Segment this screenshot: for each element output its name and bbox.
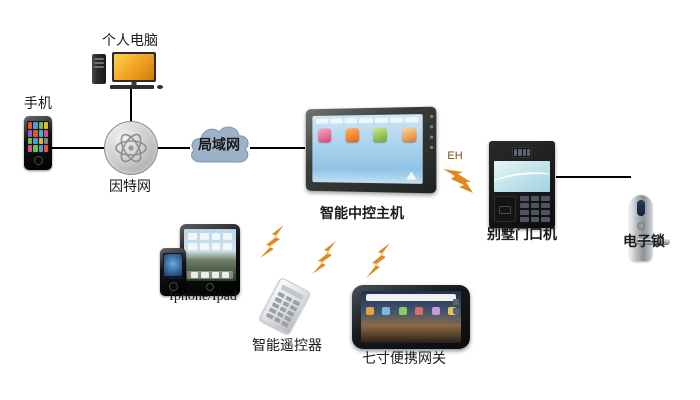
tablet-phone-icon [160, 224, 242, 290]
wireless-bolt-eh-icon [440, 163, 480, 197]
desktop-computer-icon [92, 52, 170, 90]
cloud-icon: 局域网 [185, 118, 253, 176]
touch-panel-icon [303, 108, 435, 192]
wireless-bolt-gateway-icon [364, 240, 398, 284]
iphone-ipad-label: Iphone/Ipad [148, 289, 258, 305]
internet-label: 因特网 [100, 176, 160, 196]
door-station-label: 别墅门口机 [479, 224, 565, 244]
lan-label: 局域网 [185, 134, 253, 154]
pc-label: 个人电脑 [85, 30, 175, 50]
central-host-label: 智能中控主机 [302, 203, 422, 223]
door-station-icon [489, 141, 555, 228]
link-pc-internet [130, 88, 132, 125]
phone-label: 手机 [10, 93, 66, 113]
electronic-lock-icon [630, 195, 700, 261]
remote-label: 智能遥控器 [242, 335, 332, 355]
smartphone-icon [24, 116, 52, 170]
gateway-label: 七寸便携网关 [352, 348, 456, 368]
eh-link-label: EH [441, 150, 469, 162]
remote-control-icon [268, 282, 302, 330]
wireless-bolt-ipad-icon [258, 222, 292, 264]
internet-atom-icon [104, 121, 158, 175]
network-topology-diagram: 手机 个人电脑 [0, 0, 700, 400]
link-lan-central-host [250, 147, 305, 149]
link-doorstation-lock [556, 176, 631, 178]
smart-lock-label: 电子锁 [612, 231, 676, 251]
wireless-bolt-remote-icon [310, 238, 344, 280]
link-phone-internet [46, 147, 105, 149]
portable-gateway-icon [352, 285, 470, 349]
